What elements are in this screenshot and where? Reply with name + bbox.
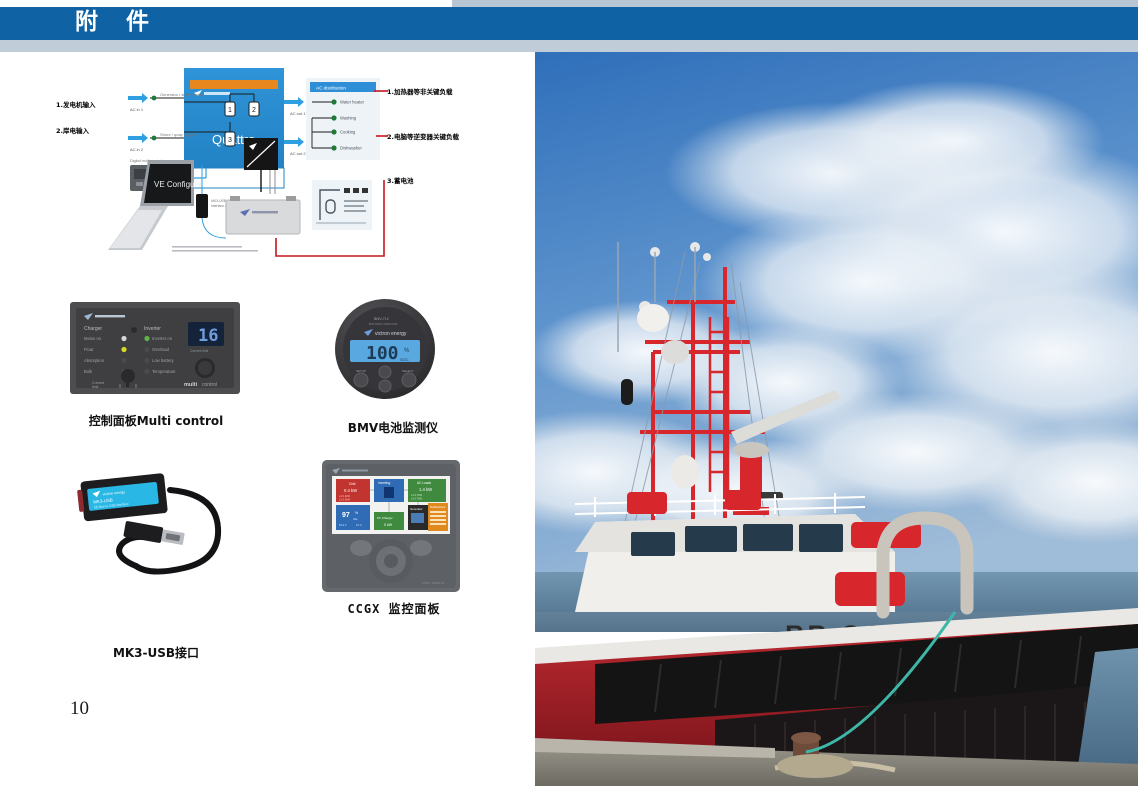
svg-text:3: 3 [228,137,232,144]
svg-text:Generator: Generator [410,507,423,511]
svg-text:Water heater: Water heater [340,100,365,105]
svg-text:97: 97 [342,512,350,519]
top-strip-left [0,0,452,7]
svg-text:%: % [355,511,358,515]
diagram-label-generator-input: 1.发电机输入 [56,99,96,109]
ccgx-panel-photo: Grid 0.4 kW L1 0.2kW L2 0.2kW Inverting … [318,456,464,596]
svg-text:Idle: Idle [353,517,358,521]
caption-multi-control: 控制面板Multi control [66,412,246,429]
svg-text:limit: limit [92,385,98,389]
svg-text:Inverter: Inverter [144,326,161,332]
svg-text:BATTERY MONITOR: BATTERY MONITOR [369,322,398,326]
svg-text:SELECT: SELECT [402,369,414,373]
svg-text:Temperature: Temperature [152,369,176,374]
svg-text:Notifications: Notifications [430,505,446,509]
svg-text:AC in 1: AC in 1 [130,107,144,112]
page-root: 附 件 [0,0,1138,786]
diagram-label-non-critical-loads: 1.加热器等非关键负载 [387,86,453,96]
mk3-usb-photo: victron energy MK3-USB VE.Bus to USB int… [66,456,246,596]
caption-bmv-monitor: BMV电池监测仪 [318,419,468,436]
svg-text:Generator / shore power: Generator / shore power [160,92,204,97]
header-band [0,7,1138,40]
svg-text:AC in 2: AC in 2 [130,147,144,152]
ac-distribution-header: AC distribution [316,86,346,91]
svg-text:MK3-USB: MK3-USB [211,199,227,203]
svg-text:Inverting: Inverting [378,481,390,485]
svg-text:Current limit: Current limit [190,349,208,353]
tugboat-photo: BB CONN [535,52,1138,786]
svg-text:Float: Float [84,347,94,352]
top-strip-right [452,0,1138,7]
svg-text:victron energy: victron energy [375,331,407,337]
svg-text:L1 0.2kW: L1 0.2kW [339,494,351,498]
svg-text:BMV-712: BMV-712 [374,317,389,321]
multi-control-photo: Charger Inverter Mains on Float Absorpti… [66,296,244,400]
svg-text:0 kW: 0 kW [384,523,393,527]
product-mk3-usb: victron energy MK3-USB VE.Bus to USB int… [66,456,246,596]
svg-text:AC Loads: AC Loads [417,481,431,485]
svg-text:1.4 kW: 1.4 kW [419,487,432,492]
svg-text:0.4 kW: 0.4 kW [344,488,357,493]
svg-text:Absorption: Absorption [84,358,105,363]
svg-text:SOC: SOC [400,357,409,362]
product-bmv-monitor: BMV-712 BATTERY MONITOR victron energy 1… [330,296,440,402]
svg-text:Washing: Washing [340,116,357,121]
svg-text:color control: color control [422,580,444,585]
caption-ccgx-panel: CCGX 监控面板 [314,600,474,617]
laptop-screen-text: VE Configure [154,180,202,189]
svg-text:PV Charger: PV Charger [377,516,393,520]
header-underband [0,40,1138,52]
svg-text:Grid: Grid [349,482,356,486]
svg-text:multi: multi [184,382,198,388]
svg-text:Overload: Overload [152,347,170,352]
svg-text:2: 2 [252,107,256,114]
page-number: 10 [70,698,89,720]
svg-text:AC out 2: AC out 2 [290,151,306,156]
svg-text:Mains on: Mains on [84,336,102,341]
svg-text:SETUP: SETUP [356,369,366,373]
svg-text:Shore / quay supply: Shore / quay supply [160,132,195,137]
svg-text:AC out 1: AC out 1 [290,111,306,116]
diagram-label-battery: 3.蓄电池 [387,175,414,185]
bmv-display-value: 100 [366,343,399,364]
svg-text:53.2 V: 53.2 V [339,523,347,527]
svg-text:Low battery: Low battery [152,358,175,363]
svg-text:Dishwasher: Dishwasher [340,146,362,151]
page-title: 附 件 [75,9,159,35]
caption-mk3-usb: MK3-USB接口 [56,644,256,661]
diagram-label-critical-loads: 2.电脑等逆变器关键负载 [387,131,459,141]
svg-text:L1 0.7kW: L1 0.7kW [411,493,423,497]
product-ccgx-panel: Grid 0.4 kW L1 0.2kW L2 0.2kW Inverting … [318,456,464,596]
svg-text:control: control [202,382,217,388]
svg-text:Charger: Charger [84,326,102,332]
multi-control-display-value: 16 [198,326,218,346]
diagram-label-shore-input: 2.岸电输入 [56,125,89,135]
svg-text:1: 1 [228,107,232,114]
svg-text:0.1 A: 0.1 A [356,523,362,527]
svg-text:L2 0.7kW: L2 0.7kW [411,497,423,501]
svg-text:Bulk: Bulk [84,369,93,374]
svg-text:Cooking: Cooking [340,130,356,135]
svg-text:L2 0.2kW: L2 0.2kW [339,498,351,502]
svg-text:Inverter on: Inverter on [152,336,173,341]
product-multi-control: Charger Inverter Mains on Float Absorpti… [66,296,244,400]
svg-text:%: % [404,348,410,354]
bmv-monitor-photo: BMV-712 BATTERY MONITOR victron energy 1… [330,296,440,402]
